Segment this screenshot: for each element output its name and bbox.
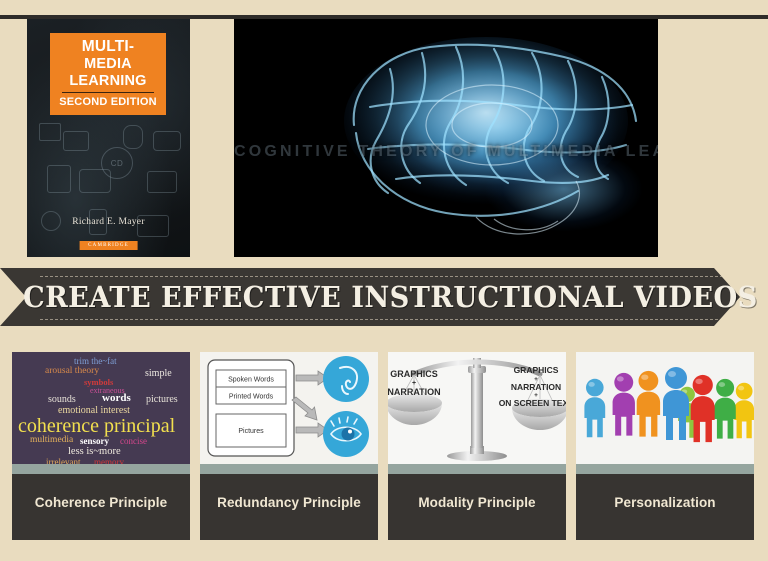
word-cloud-term: pictures bbox=[146, 395, 178, 405]
chalk-doodle-icon bbox=[39, 123, 61, 141]
card-label-modality: Modality Principle bbox=[388, 474, 566, 540]
banner-dashed-line-top bbox=[40, 276, 728, 277]
person-figure-icon bbox=[584, 379, 605, 437]
person-figure-icon bbox=[637, 371, 660, 437]
book-publisher: CAMBRIDGE bbox=[79, 241, 138, 250]
book-cover-image: CD MULTI- MEDIA LEARNING SECOND EDITION … bbox=[27, 19, 190, 257]
banner-dashed-line-bottom bbox=[40, 319, 728, 320]
balance-scale-canvas: GRAPHICS + NARRATION GRAPHICS + NARRATIO… bbox=[388, 352, 566, 464]
card-label-coherence: Coherence Principle bbox=[12, 474, 190, 540]
word-cloud-term: arousal theory bbox=[45, 367, 99, 377]
card-accent-strip bbox=[200, 464, 378, 474]
chalk-doodle-icon bbox=[147, 171, 177, 193]
brain-image: COGNITIVE THEORY OF MULTIMEDIA LEARNING bbox=[234, 19, 658, 257]
people-figures-svg bbox=[576, 352, 754, 464]
person-figure-icon bbox=[691, 375, 715, 442]
card-redundancy-principle[interactable]: Spoken Words Printed Words Pictures bbox=[200, 352, 378, 540]
brain-illustration-icon bbox=[326, 29, 656, 251]
word-cloud-term: sounds bbox=[48, 395, 76, 405]
book-title-line1: MULTI- bbox=[55, 39, 161, 55]
chalk-doodle-icon bbox=[47, 165, 71, 193]
word-cloud-canvas: trim the~fatarousal theorysimplesymbolse… bbox=[12, 352, 190, 464]
book-author: Richard E. Mayer bbox=[27, 217, 190, 227]
person-figure-icon bbox=[613, 373, 635, 436]
chalk-doodle-icon bbox=[63, 131, 89, 151]
svg-text:NARRATION: NARRATION bbox=[388, 387, 441, 397]
svg-text:Pictures: Pictures bbox=[238, 428, 264, 435]
chalk-doodle-icon bbox=[123, 125, 143, 149]
word-cloud-term: less is~more bbox=[68, 447, 121, 458]
word-cloud-image: trim the~fatarousal theorysimplesymbolse… bbox=[12, 352, 190, 464]
book-title-panel: MULTI- MEDIA LEARNING SECOND EDITION bbox=[50, 33, 166, 115]
svg-text:Spoken Words: Spoken Words bbox=[228, 377, 274, 384]
card-accent-strip bbox=[12, 464, 190, 474]
brain-overlay-text: COGNITIVE THEORY OF MULTIMEDIA LEARNING bbox=[234, 143, 658, 161]
cd-doodle-icon: CD bbox=[101, 147, 133, 179]
balance-scale-image: GRAPHICS + NARRATION GRAPHICS + NARRATIO… bbox=[388, 352, 566, 464]
word-cloud-term: concise bbox=[120, 437, 147, 446]
card-accent-strip bbox=[576, 464, 754, 474]
word-cloud-term: words bbox=[102, 393, 131, 404]
book-edition: SECOND EDITION bbox=[55, 96, 161, 108]
people-figures-image bbox=[576, 352, 754, 464]
svg-text:NARRATION: NARRATION bbox=[511, 382, 561, 392]
svg-text:+: + bbox=[412, 380, 416, 387]
word-cloud-term: trim the~fat bbox=[74, 357, 117, 366]
principle-cards-row: trim the~fatarousal theorysimplesymbolse… bbox=[0, 352, 768, 542]
card-personalization[interactable]: Personalization bbox=[576, 352, 754, 540]
svg-text:GRAPHICS: GRAPHICS bbox=[514, 365, 559, 375]
people-figures-canvas bbox=[576, 352, 754, 464]
word-cloud-term: sensory bbox=[80, 437, 109, 446]
media-row: CD MULTI- MEDIA LEARNING SECOND EDITION … bbox=[0, 19, 768, 257]
book-title-line2: MEDIA bbox=[55, 56, 161, 72]
redundancy-diagram-canvas: Spoken Words Printed Words Pictures bbox=[200, 352, 378, 464]
word-cloud-term: coherence principal bbox=[18, 416, 175, 436]
redundancy-diagram-image: Spoken Words Printed Words Pictures bbox=[200, 352, 378, 464]
page-title: CREATE EFFECTIVE INSTRUCTIONAL VIDEOS bbox=[23, 281, 745, 313]
svg-text:GRAPHICS: GRAPHICS bbox=[390, 369, 438, 379]
svg-text:Printed Words: Printed Words bbox=[229, 394, 274, 401]
card-modality-principle[interactable]: GRAPHICS + NARRATION GRAPHICS + NARRATIO… bbox=[388, 352, 566, 540]
person-figure-icon bbox=[734, 383, 754, 438]
chalk-doodle-icon bbox=[153, 131, 181, 151]
card-label-redundancy: Redundancy Principle bbox=[200, 474, 378, 540]
book-title-line3: LEARNING bbox=[55, 73, 161, 89]
person-figure-icon bbox=[714, 379, 735, 439]
card-coherence-principle[interactable]: trim the~fatarousal theorysimplesymbolse… bbox=[12, 352, 190, 540]
word-cloud-term: simple bbox=[145, 369, 172, 379]
banner-ribbon: CREATE EFFECTIVE INSTRUCTIONAL VIDEOS bbox=[0, 268, 768, 328]
card-accent-strip bbox=[388, 464, 566, 474]
redundancy-diagram-svg: Spoken Words Printed Words Pictures bbox=[200, 352, 378, 464]
svg-text:ON SCREEN TEXT: ON SCREEN TEXT bbox=[499, 398, 566, 408]
balance-scale-svg: GRAPHICS + NARRATION GRAPHICS + NARRATIO… bbox=[388, 352, 566, 464]
person-figure-icon bbox=[663, 367, 689, 440]
word-cloud-term: multimedia bbox=[30, 436, 73, 446]
book-title-rule bbox=[62, 92, 154, 94]
card-label-personalization: Personalization bbox=[576, 474, 754, 540]
